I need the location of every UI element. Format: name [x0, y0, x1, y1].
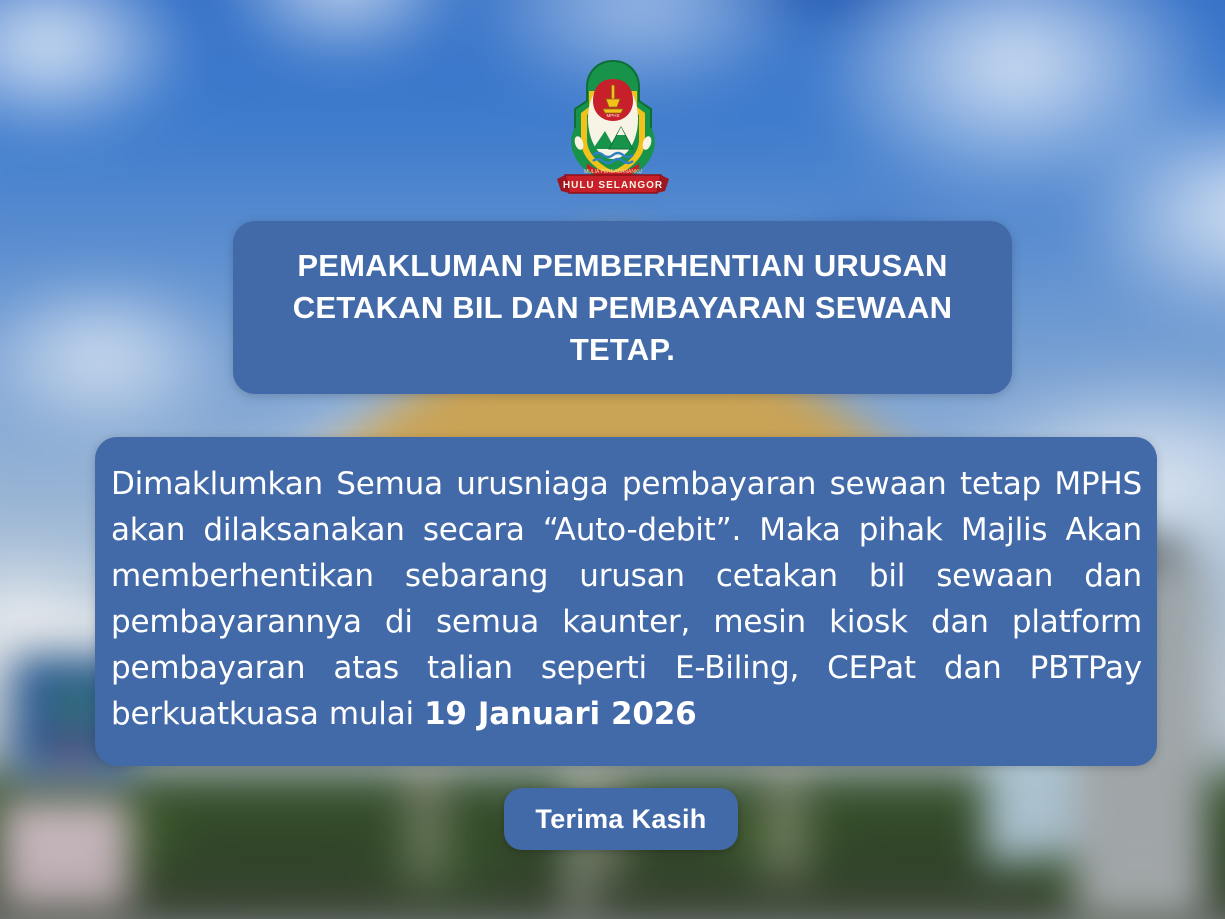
terima-kasih-button[interactable]: Terima Kasih — [504, 788, 738, 850]
svg-text:MPHS: MPHS — [606, 113, 619, 118]
announcement-title-text: PEMAKLUMAN PEMBERHENTIAN URUSAN CETAKAN … — [233, 245, 1012, 371]
hulu-selangor-coat-of-arms-icon: MPHS MULIA PERBADANANKU HULU SELANGOR — [553, 57, 673, 197]
emblem-banner-text: HULU SELANGOR — [562, 180, 662, 191]
announcement-title-panel: PEMAKLUMAN PEMBERHENTIAN URUSAN CETAKAN … — [233, 221, 1012, 394]
emblem-motto-text: MULIA PERBADANANKU — [584, 169, 642, 175]
announcement-body-text: Dimaklumkan Semua urusniaga pembayaran s… — [102, 461, 1150, 737]
announcement-body-paragraph: Dimaklumkan Semua urusniaga pembayaran s… — [111, 466, 1142, 732]
poster-canvas: MPHS MULIA PERBADANANKU HULU SELANGOR — [0, 0, 1225, 919]
announcement-effective-date: 19 Januari 2026 — [424, 696, 696, 732]
announcement-body-panel: Dimaklumkan Semua urusniaga pembayaran s… — [95, 437, 1157, 766]
